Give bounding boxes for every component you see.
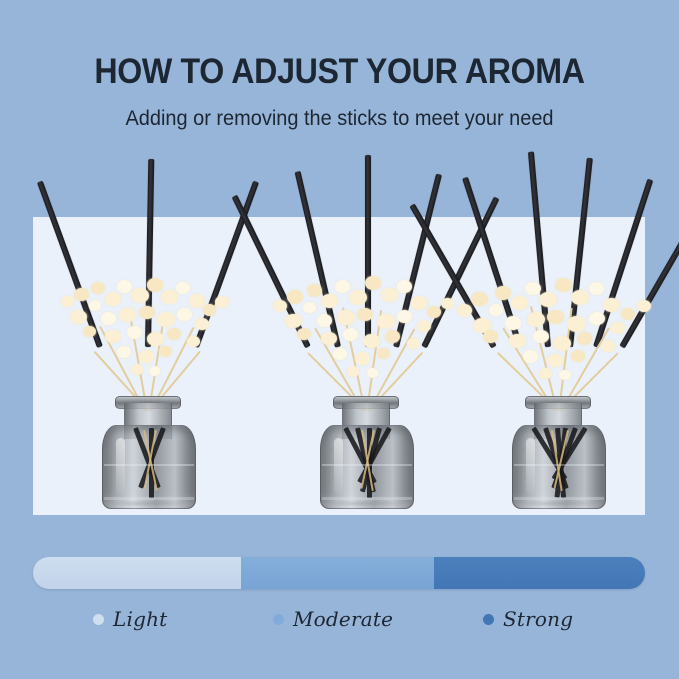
diffuser-bottle (102, 397, 194, 509)
legend-label: Strong (503, 607, 573, 631)
reed-stick (462, 177, 523, 348)
page-subtitle: Adding or removing the sticks to meet yo… (17, 92, 662, 131)
product-photo-panel (33, 217, 645, 515)
reed-stick (619, 203, 679, 348)
legend: Light Moderate Strong (33, 607, 645, 643)
diffuser-light (43, 160, 253, 515)
reed-stick (295, 171, 341, 348)
diffuser-bottle (320, 397, 412, 509)
legend-dot-icon (93, 614, 104, 625)
dried-flowers (453, 274, 663, 409)
reed-stick (365, 155, 371, 347)
bottle-body (102, 425, 196, 509)
legend-label: Moderate (293, 607, 393, 631)
intensity-segment-strong (434, 557, 645, 589)
reed-stick (193, 181, 259, 348)
header: HOW TO ADJUST YOUR AROMA Adding or remov… (0, 0, 679, 131)
reed-stick (593, 179, 653, 348)
intensity-bar (33, 557, 645, 589)
reed-stick (567, 158, 593, 348)
bottle-body (320, 425, 414, 509)
reed-stick (37, 181, 103, 348)
intensity-segment-light (33, 557, 241, 589)
reed-stick (145, 159, 154, 347)
diffuser-strong (453, 160, 663, 515)
legend-item-moderate: Moderate (273, 607, 393, 631)
legend-dot-icon (273, 614, 284, 625)
legend-item-strong: Strong (483, 607, 573, 631)
page-title: HOW TO ADJUST YOUR AROMA (27, 0, 652, 92)
reed-stick (528, 151, 551, 347)
diffuser-moderate (261, 160, 471, 515)
aroma-infographic: HOW TO ADJUST YOUR AROMA Adding or remov… (0, 0, 679, 679)
legend-item-light: Light (93, 607, 167, 631)
bottle-body (512, 425, 606, 509)
diffuser-bottle (512, 397, 604, 509)
legend-dot-icon (483, 614, 494, 625)
intensity-segment-moderate (241, 557, 434, 589)
legend-label: Light (113, 607, 167, 631)
